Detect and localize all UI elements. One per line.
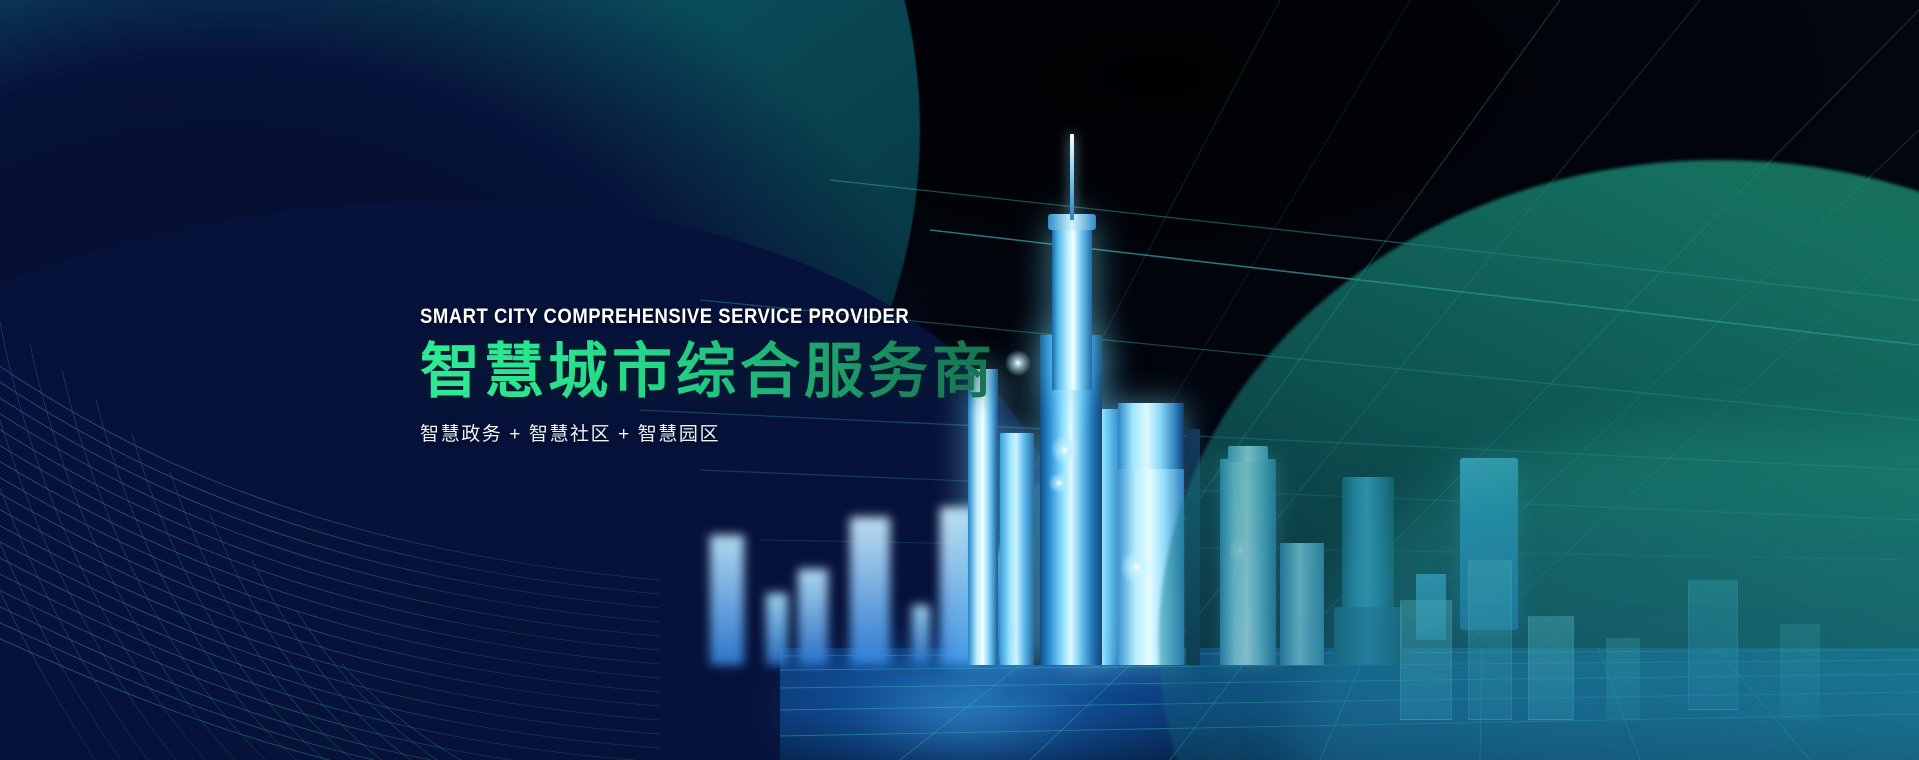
central-tower-spire bbox=[1070, 134, 1074, 220]
lens-flare bbox=[1005, 350, 1031, 376]
foreground-slab bbox=[850, 517, 890, 665]
hero-tagline: 智慧政务 + 智慧社区 + 智慧园区 bbox=[420, 419, 996, 446]
foreground-slab bbox=[798, 569, 828, 665]
foreground-slab bbox=[710, 535, 744, 665]
foreground-slab bbox=[766, 593, 788, 665]
foreground-slab bbox=[912, 605, 930, 665]
lit-tower bbox=[1000, 433, 1034, 665]
hero-copy-block: SMART CITY COMPREHENSIVE SERVICE PROVIDE… bbox=[420, 305, 996, 446]
central-tower-shaft bbox=[1052, 222, 1092, 390]
hero-eyebrow: SMART CITY COMPREHENSIVE SERVICE PROVIDE… bbox=[420, 305, 927, 328]
hero-headline: 智慧城市综合服务商 bbox=[420, 340, 996, 405]
smart-city-hero-banner: SMART CITY COMPREHENSIVE SERVICE PROVIDE… bbox=[0, 0, 1919, 760]
